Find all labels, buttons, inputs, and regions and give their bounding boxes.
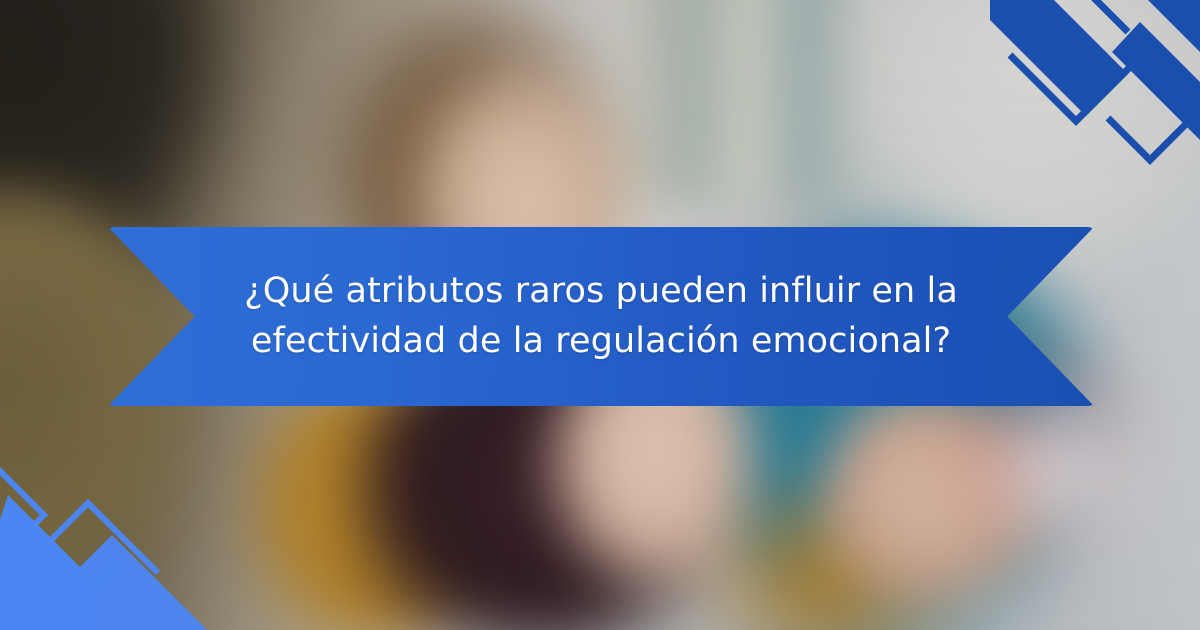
social-card: ¿Qué atributos raros pueden influir en l…: [0, 0, 1200, 630]
headline-line-2: efectividad de la regulación emocional?: [251, 317, 951, 367]
headline-ribbon: ¿Qué atributos raros pueden influir en l…: [108, 227, 1094, 406]
headline-line-1: ¿Qué atributos raros pueden influir en l…: [244, 267, 958, 317]
headline-text: ¿Qué atributos raros pueden influir en l…: [108, 227, 1094, 406]
